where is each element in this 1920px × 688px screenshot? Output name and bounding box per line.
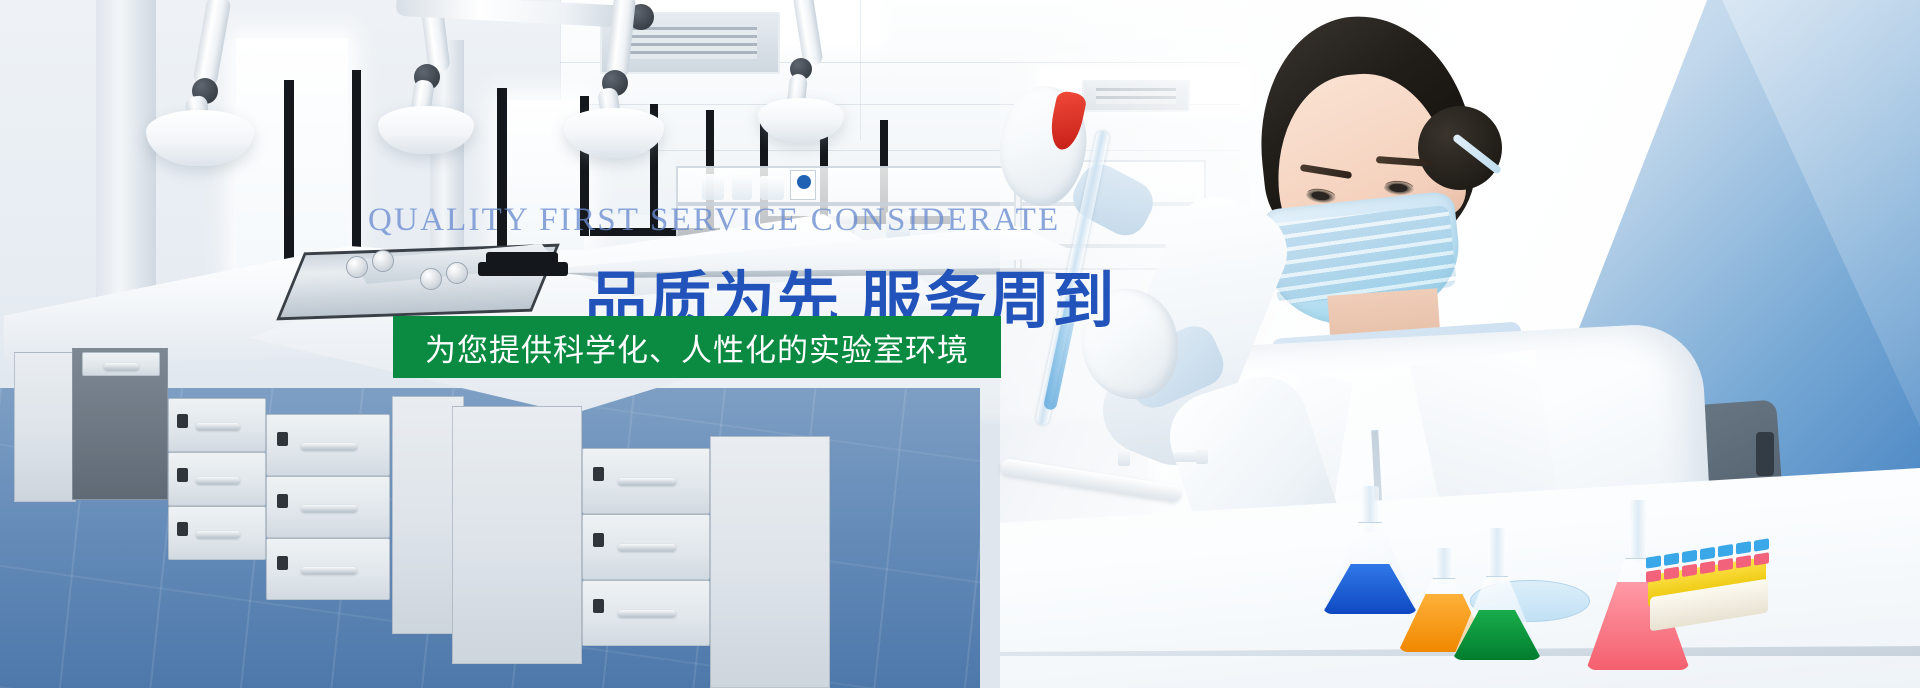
green-subtitle-band: 为您提供科学化、人性化的实验室环境 [393, 316, 1001, 378]
lab-hero-banner: QUALITY FIRST SERVICE CONSIDERATE 品质为先 服… [0, 0, 1920, 688]
green-band-text: 为您提供科学化、人性化的实验室环境 [425, 325, 969, 370]
english-tagline: QUALITY FIRST SERVICE CONSIDERATE [368, 202, 1028, 239]
text-overlay: QUALITY FIRST SERVICE CONSIDERATE 品质为先 服… [0, 0, 1920, 688]
